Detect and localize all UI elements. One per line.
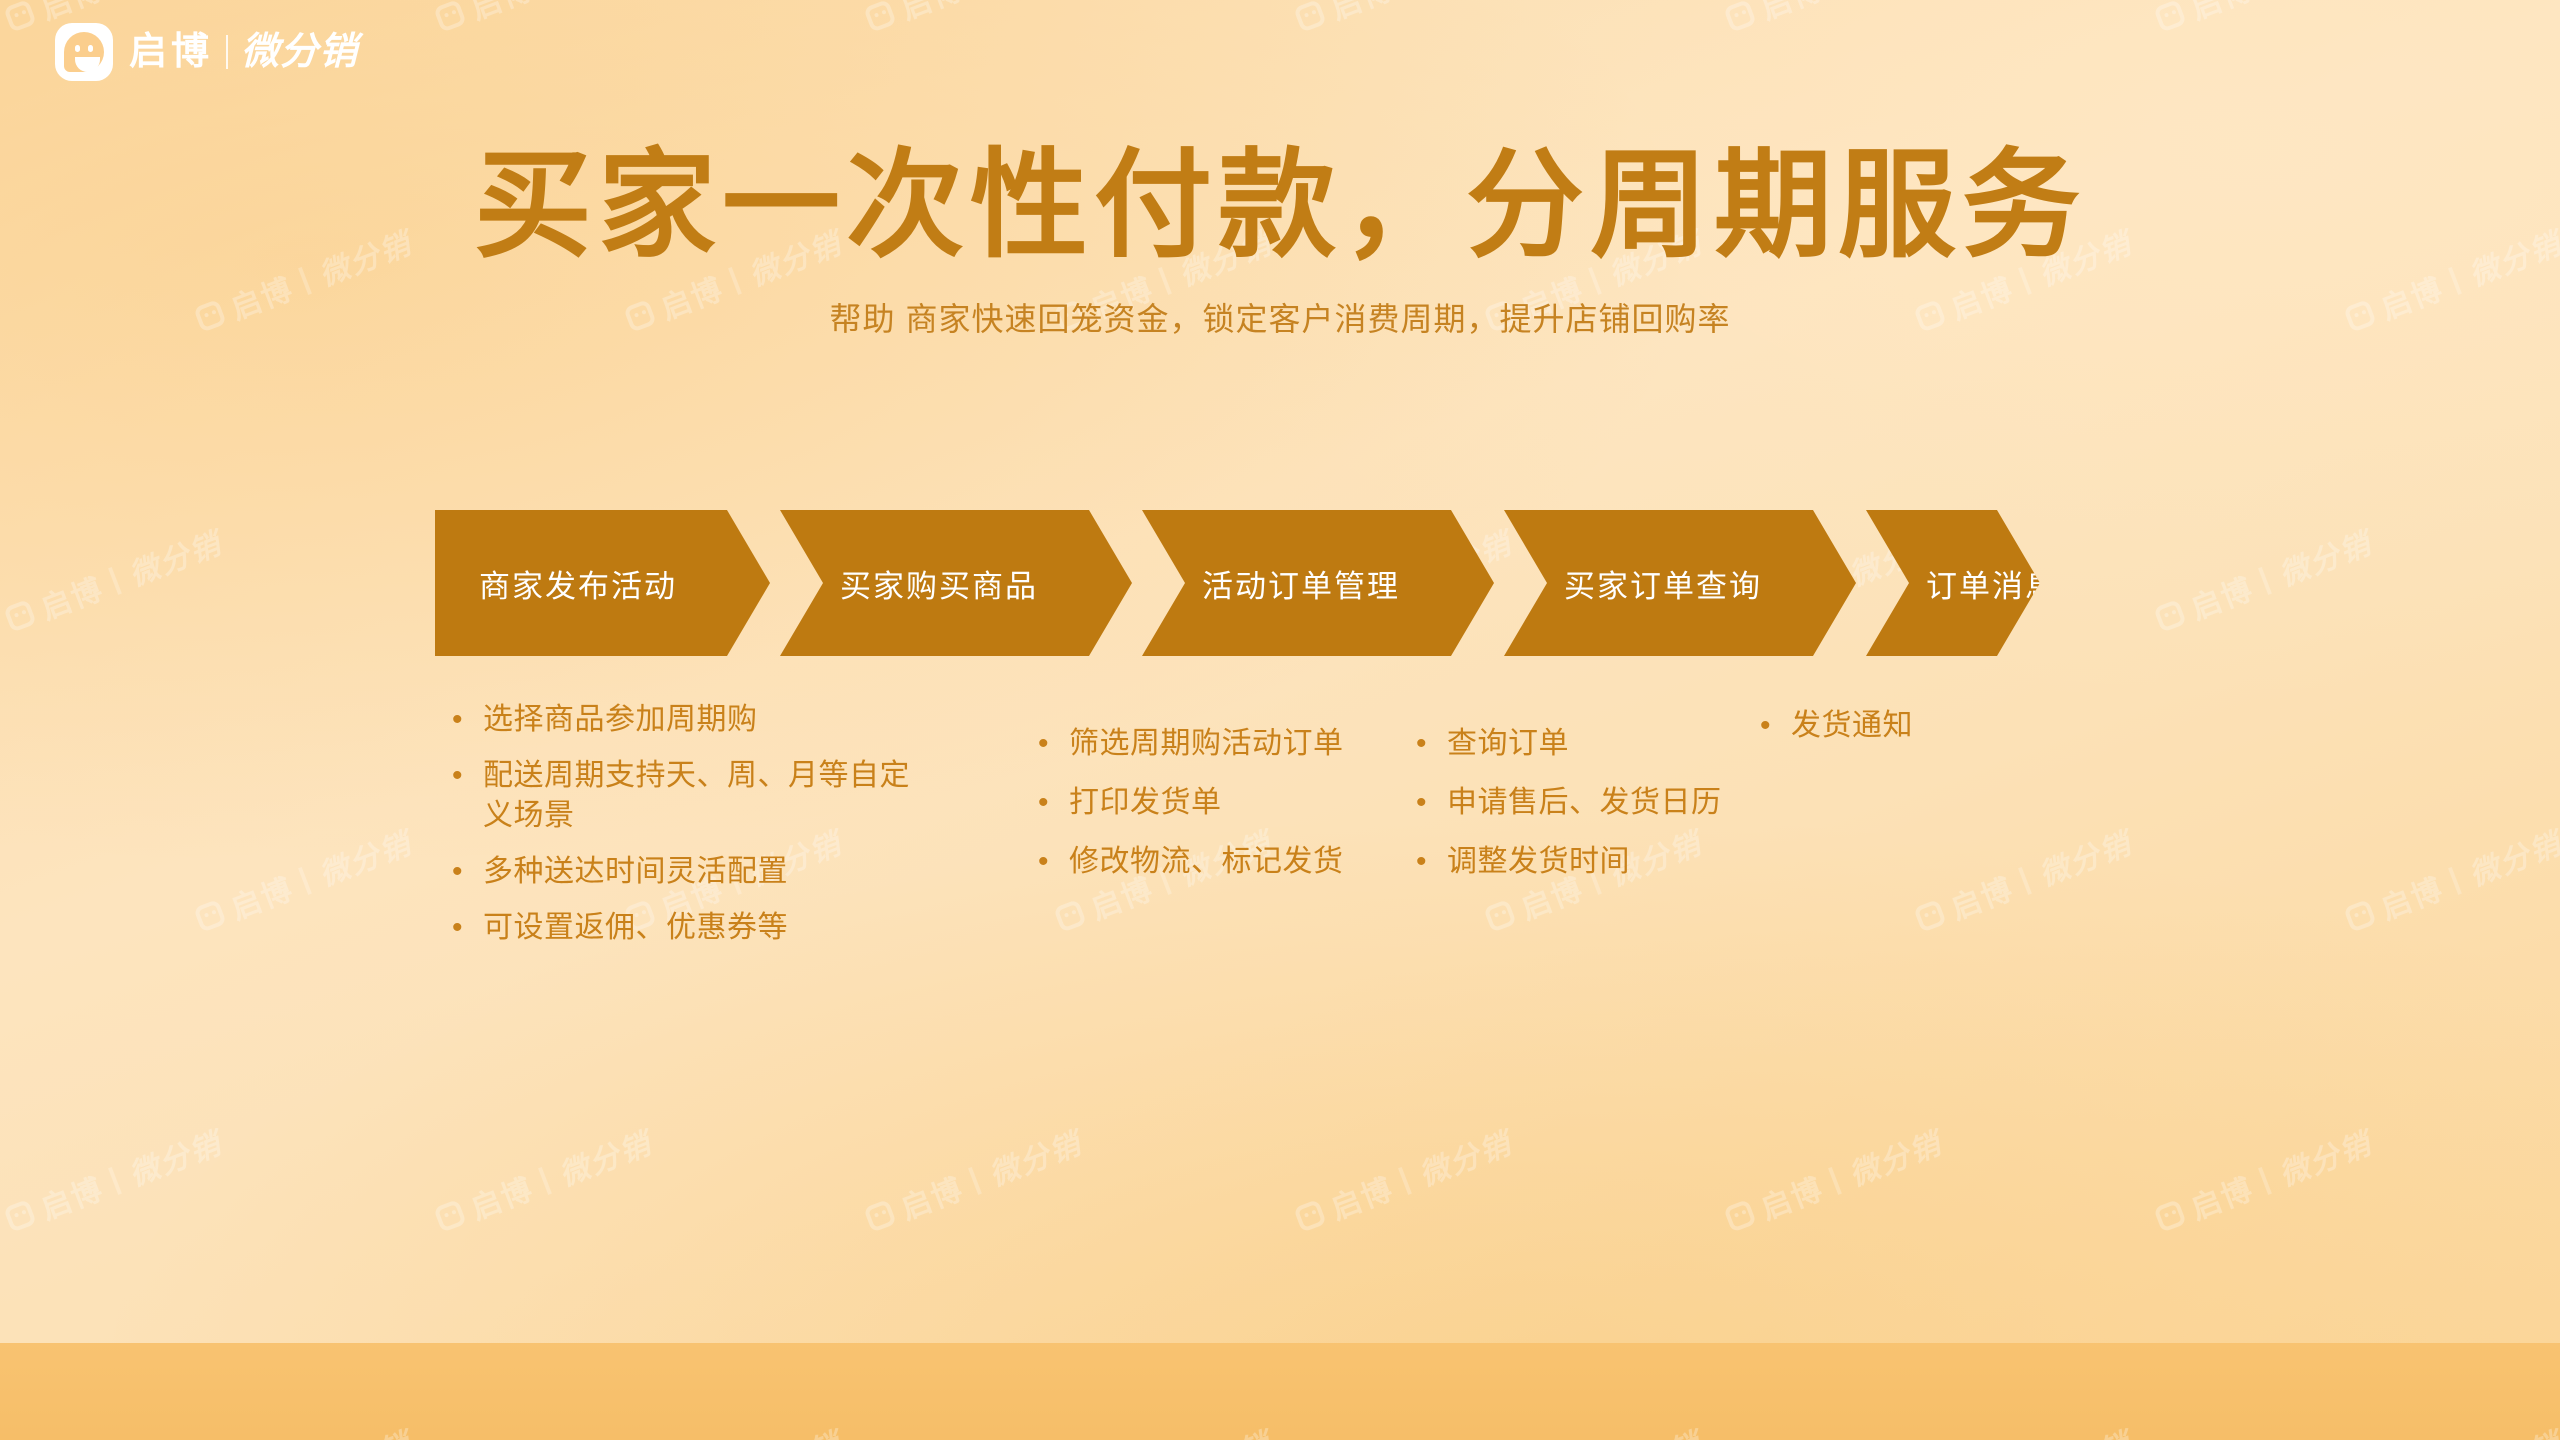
bottom-color-band xyxy=(0,1343,2560,1440)
brand-divider-icon xyxy=(226,35,228,69)
brand-logo-text: 启博 微分销 xyxy=(129,33,358,71)
feature-list-item: •多种送达时间灵活配置 xyxy=(452,852,922,892)
flow-step-2[interactable]: 买家购买商品 xyxy=(780,510,1132,656)
bullet-dot-icon: • xyxy=(452,756,483,796)
bullet-dot-icon: • xyxy=(452,852,483,892)
flow-step-4[interactable]: 买家订单查询 xyxy=(1504,510,1856,656)
feature-list-item: •申请售后、发货日历 xyxy=(1416,783,1736,823)
feature-column-1: •选择商品参加周期购•配送周期支持天、周、月等自定义场景•多种送达时间灵活配置•… xyxy=(452,700,922,964)
feature-list-item-label: 可设置返佣、优惠券等 xyxy=(483,908,788,948)
feature-list-item-label: 申请售后、发货日历 xyxy=(1447,783,1722,823)
headline-block: 买家一次性付款，分周期服务 帮助 商家快速回笼资金，锁定客户消费周期，提升店铺回… xyxy=(0,140,2560,340)
page-subtitle: 帮助 商家快速回笼资金，锁定客户消费周期，提升店铺回购率 xyxy=(0,294,2560,340)
bullet-dot-icon: • xyxy=(1416,783,1447,823)
bullet-dot-icon: • xyxy=(1416,724,1447,764)
feature-list-item: •发货通知 xyxy=(1760,706,2040,746)
bullet-dot-icon: • xyxy=(452,908,483,948)
flow-step-3-label: 活动订单管理 xyxy=(1202,561,1400,606)
feature-list-item-label: 配送周期支持天、周、月等自定义场景 xyxy=(483,756,922,836)
feature-list-item: •调整发货时间 xyxy=(1416,842,1736,882)
flow-step-5[interactable]: 订单消息通知 xyxy=(1866,510,2040,656)
flow-step-2-label: 买家购买商品 xyxy=(840,561,1038,606)
feature-list-item: •修改物流、标记发货 xyxy=(1038,842,1368,882)
flow-step-1-label: 商家发布活动 xyxy=(479,561,677,606)
qibo-smiley-logo-icon xyxy=(55,23,113,81)
flow-step-1[interactable]: 商家发布活动 xyxy=(435,510,770,656)
feature-list-item: •查询订单 xyxy=(1416,724,1736,764)
feature-list-item-label: 发货通知 xyxy=(1791,706,1913,746)
brand-logo: 启博 微分销 xyxy=(55,22,358,82)
flow-step-4-label: 买家订单查询 xyxy=(1564,561,1762,606)
feature-list-item-label: 筛选周期购活动订单 xyxy=(1069,724,1344,764)
brand-product-name: 微分销 xyxy=(241,33,358,71)
feature-column-4: •发货通知 xyxy=(1760,706,2040,764)
feature-list-item: •筛选周期购活动订单 xyxy=(1038,724,1368,764)
feature-list-item-label: 查询订单 xyxy=(1447,724,1569,764)
bullet-dot-icon: • xyxy=(1760,706,1791,746)
feature-column-2: •筛选周期购活动订单•打印发货单•修改物流、标记发货 xyxy=(1038,724,1368,901)
process-flow-banner: 商家发布活动 买家购买商品 活动订单管理 买家订单查询 订单消息通知 xyxy=(435,510,2040,656)
brand-name: 启博 xyxy=(129,33,213,71)
feature-list-item: •可设置返佣、优惠券等 xyxy=(452,908,922,948)
flow-step-3[interactable]: 活动订单管理 xyxy=(1142,510,1494,656)
bullet-dot-icon: • xyxy=(1416,842,1447,882)
feature-list-item-label: 多种送达时间灵活配置 xyxy=(483,852,788,892)
feature-list-item: •配送周期支持天、周、月等自定义场景 xyxy=(452,756,922,836)
feature-list-item-label: 选择商品参加周期购 xyxy=(483,700,758,740)
feature-list-item-label: 调整发货时间 xyxy=(1447,842,1630,882)
bullet-dot-icon: • xyxy=(1038,724,1069,764)
feature-list-item-label: 打印发货单 xyxy=(1069,783,1222,823)
feature-column-3: •查询订单•申请售后、发货日历•调整发货时间 xyxy=(1416,724,1736,901)
bullet-dot-icon: • xyxy=(1038,842,1069,882)
feature-list-item: •打印发货单 xyxy=(1038,783,1368,823)
bullet-dot-icon: • xyxy=(452,700,483,740)
feature-list-item: •选择商品参加周期购 xyxy=(452,700,922,740)
bullet-dot-icon: • xyxy=(1038,783,1069,823)
page-title: 买家一次性付款，分周期服务 xyxy=(0,140,2560,272)
feature-list-item-label: 修改物流、标记发货 xyxy=(1069,842,1344,882)
